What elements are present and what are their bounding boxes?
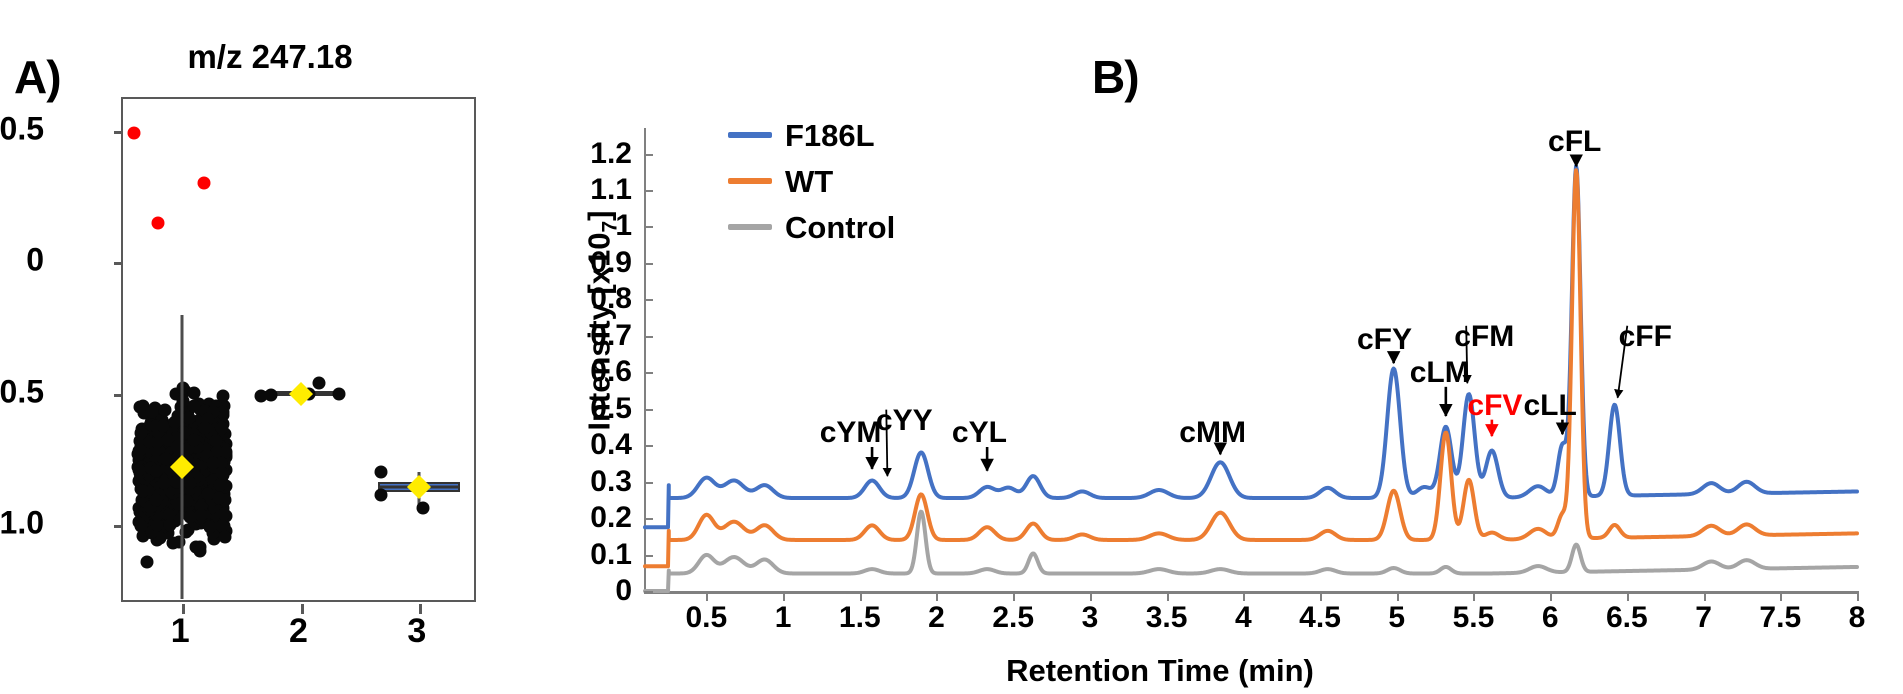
panel-a-y-tick-label: -1.0: [0, 505, 44, 542]
chromatogram-svg: [645, 128, 1857, 591]
trace-control: [645, 512, 1857, 591]
y-tick-mark: [644, 336, 653, 338]
x-tick-label: 1.5: [825, 601, 895, 635]
x-tick-label: 4.5: [1285, 601, 1355, 635]
panel-a-x-tick-label: 1: [150, 612, 210, 651]
x-tick-label: 5: [1362, 601, 1432, 635]
panel-a-y-tick-label: 0.5: [0, 110, 44, 147]
x-tick-label: 0.5: [671, 601, 741, 635]
y-tick-label: 0.3: [537, 465, 632, 499]
panel-a-x-tick-label: 2: [269, 612, 329, 651]
x-tick-mark: [1627, 591, 1629, 601]
x-tick-label: 4: [1208, 601, 1278, 635]
x-tick-mark: [1550, 591, 1552, 601]
panel-a: A) m/z 247.18 0.50-0.5-1.0123: [0, 0, 540, 694]
panel-a-overlay: [121, 97, 476, 602]
y-tick-label: 0.6: [537, 355, 632, 389]
y-tick-mark: [644, 299, 653, 301]
y-tick-label: 0.9: [537, 246, 632, 280]
y-tick-mark: [644, 555, 653, 557]
x-tick-label: 7: [1669, 601, 1739, 635]
x-tick-mark: [1320, 591, 1322, 601]
panel-a-y-tick-label: -0.5: [0, 373, 44, 410]
y-tick-label: 0.5: [537, 392, 632, 426]
y-tick-label: 0: [537, 574, 632, 608]
x-tick-label: 5.5: [1438, 601, 1508, 635]
y-tick-label: 0.4: [537, 428, 632, 462]
x-tick-label: 6: [1515, 601, 1585, 635]
x-axis-line: [644, 591, 1857, 594]
y-tick-label: 1: [537, 209, 632, 243]
y-tick-label: 1.1: [537, 173, 632, 207]
trace-f186l: [645, 166, 1857, 527]
x-tick-label: 6.5: [1592, 601, 1662, 635]
figure-root: A) m/z 247.18 0.50-0.5-1.0123 B) Intensi…: [0, 0, 1903, 694]
panel-a-letter: A): [14, 50, 61, 104]
x-tick-mark: [1857, 591, 1859, 601]
x-tick-mark: [706, 591, 708, 601]
x-tick-mark: [1704, 591, 1706, 601]
y-tick-mark: [644, 591, 653, 593]
x-tick-mark: [1167, 591, 1169, 601]
x-tick-label: 3.5: [1132, 601, 1202, 635]
x-tick-label: 2.5: [978, 601, 1048, 635]
y-tick-mark: [644, 518, 653, 520]
chromatogram-plot: [645, 128, 1857, 591]
x-tick-mark: [1243, 591, 1245, 601]
x-tick-label: 2: [901, 601, 971, 635]
x-tick-mark: [936, 591, 938, 601]
y-tick-mark: [644, 190, 653, 192]
x-tick-label: 8: [1822, 601, 1892, 635]
panel-a-x-tick-label: 3: [387, 612, 447, 651]
y-tick-mark: [644, 154, 653, 156]
y-tick-mark: [644, 409, 653, 411]
y-tick-label: 0.8: [537, 282, 632, 316]
y-tick-label: 0.7: [537, 319, 632, 353]
y-tick-mark: [644, 445, 653, 447]
x-tick-mark: [1013, 591, 1015, 601]
x-tick-mark: [1473, 591, 1475, 601]
x-tick-label: 1: [748, 601, 818, 635]
y-tick-mark: [644, 482, 653, 484]
panel-b-letter: B): [1092, 50, 1139, 104]
x-tick-mark: [783, 591, 785, 601]
y-tick-label: 1.2: [537, 137, 632, 171]
x-tick-mark: [1780, 591, 1782, 601]
trace-wt: [645, 170, 1857, 566]
x-tick-mark: [1397, 591, 1399, 601]
y-tick-label: 0.1: [537, 538, 632, 572]
panel-b: B) Intensity [x107] F186LWTControl cYMcY…: [540, 0, 1903, 694]
y-tick-mark: [644, 263, 653, 265]
y-tick-mark: [644, 226, 653, 228]
panel-a-title: m/z 247.18: [120, 38, 420, 76]
x-tick-mark: [1090, 591, 1092, 601]
y-tick-mark: [644, 372, 653, 374]
x-tick-label: 7.5: [1745, 601, 1815, 635]
x-tick-mark: [860, 591, 862, 601]
y-tick-label: 0.2: [537, 501, 632, 535]
x-axis-label: Retention Time (min): [810, 653, 1510, 689]
panel-a-y-tick-label: 0: [0, 242, 44, 279]
x-tick-label: 3: [1055, 601, 1125, 635]
